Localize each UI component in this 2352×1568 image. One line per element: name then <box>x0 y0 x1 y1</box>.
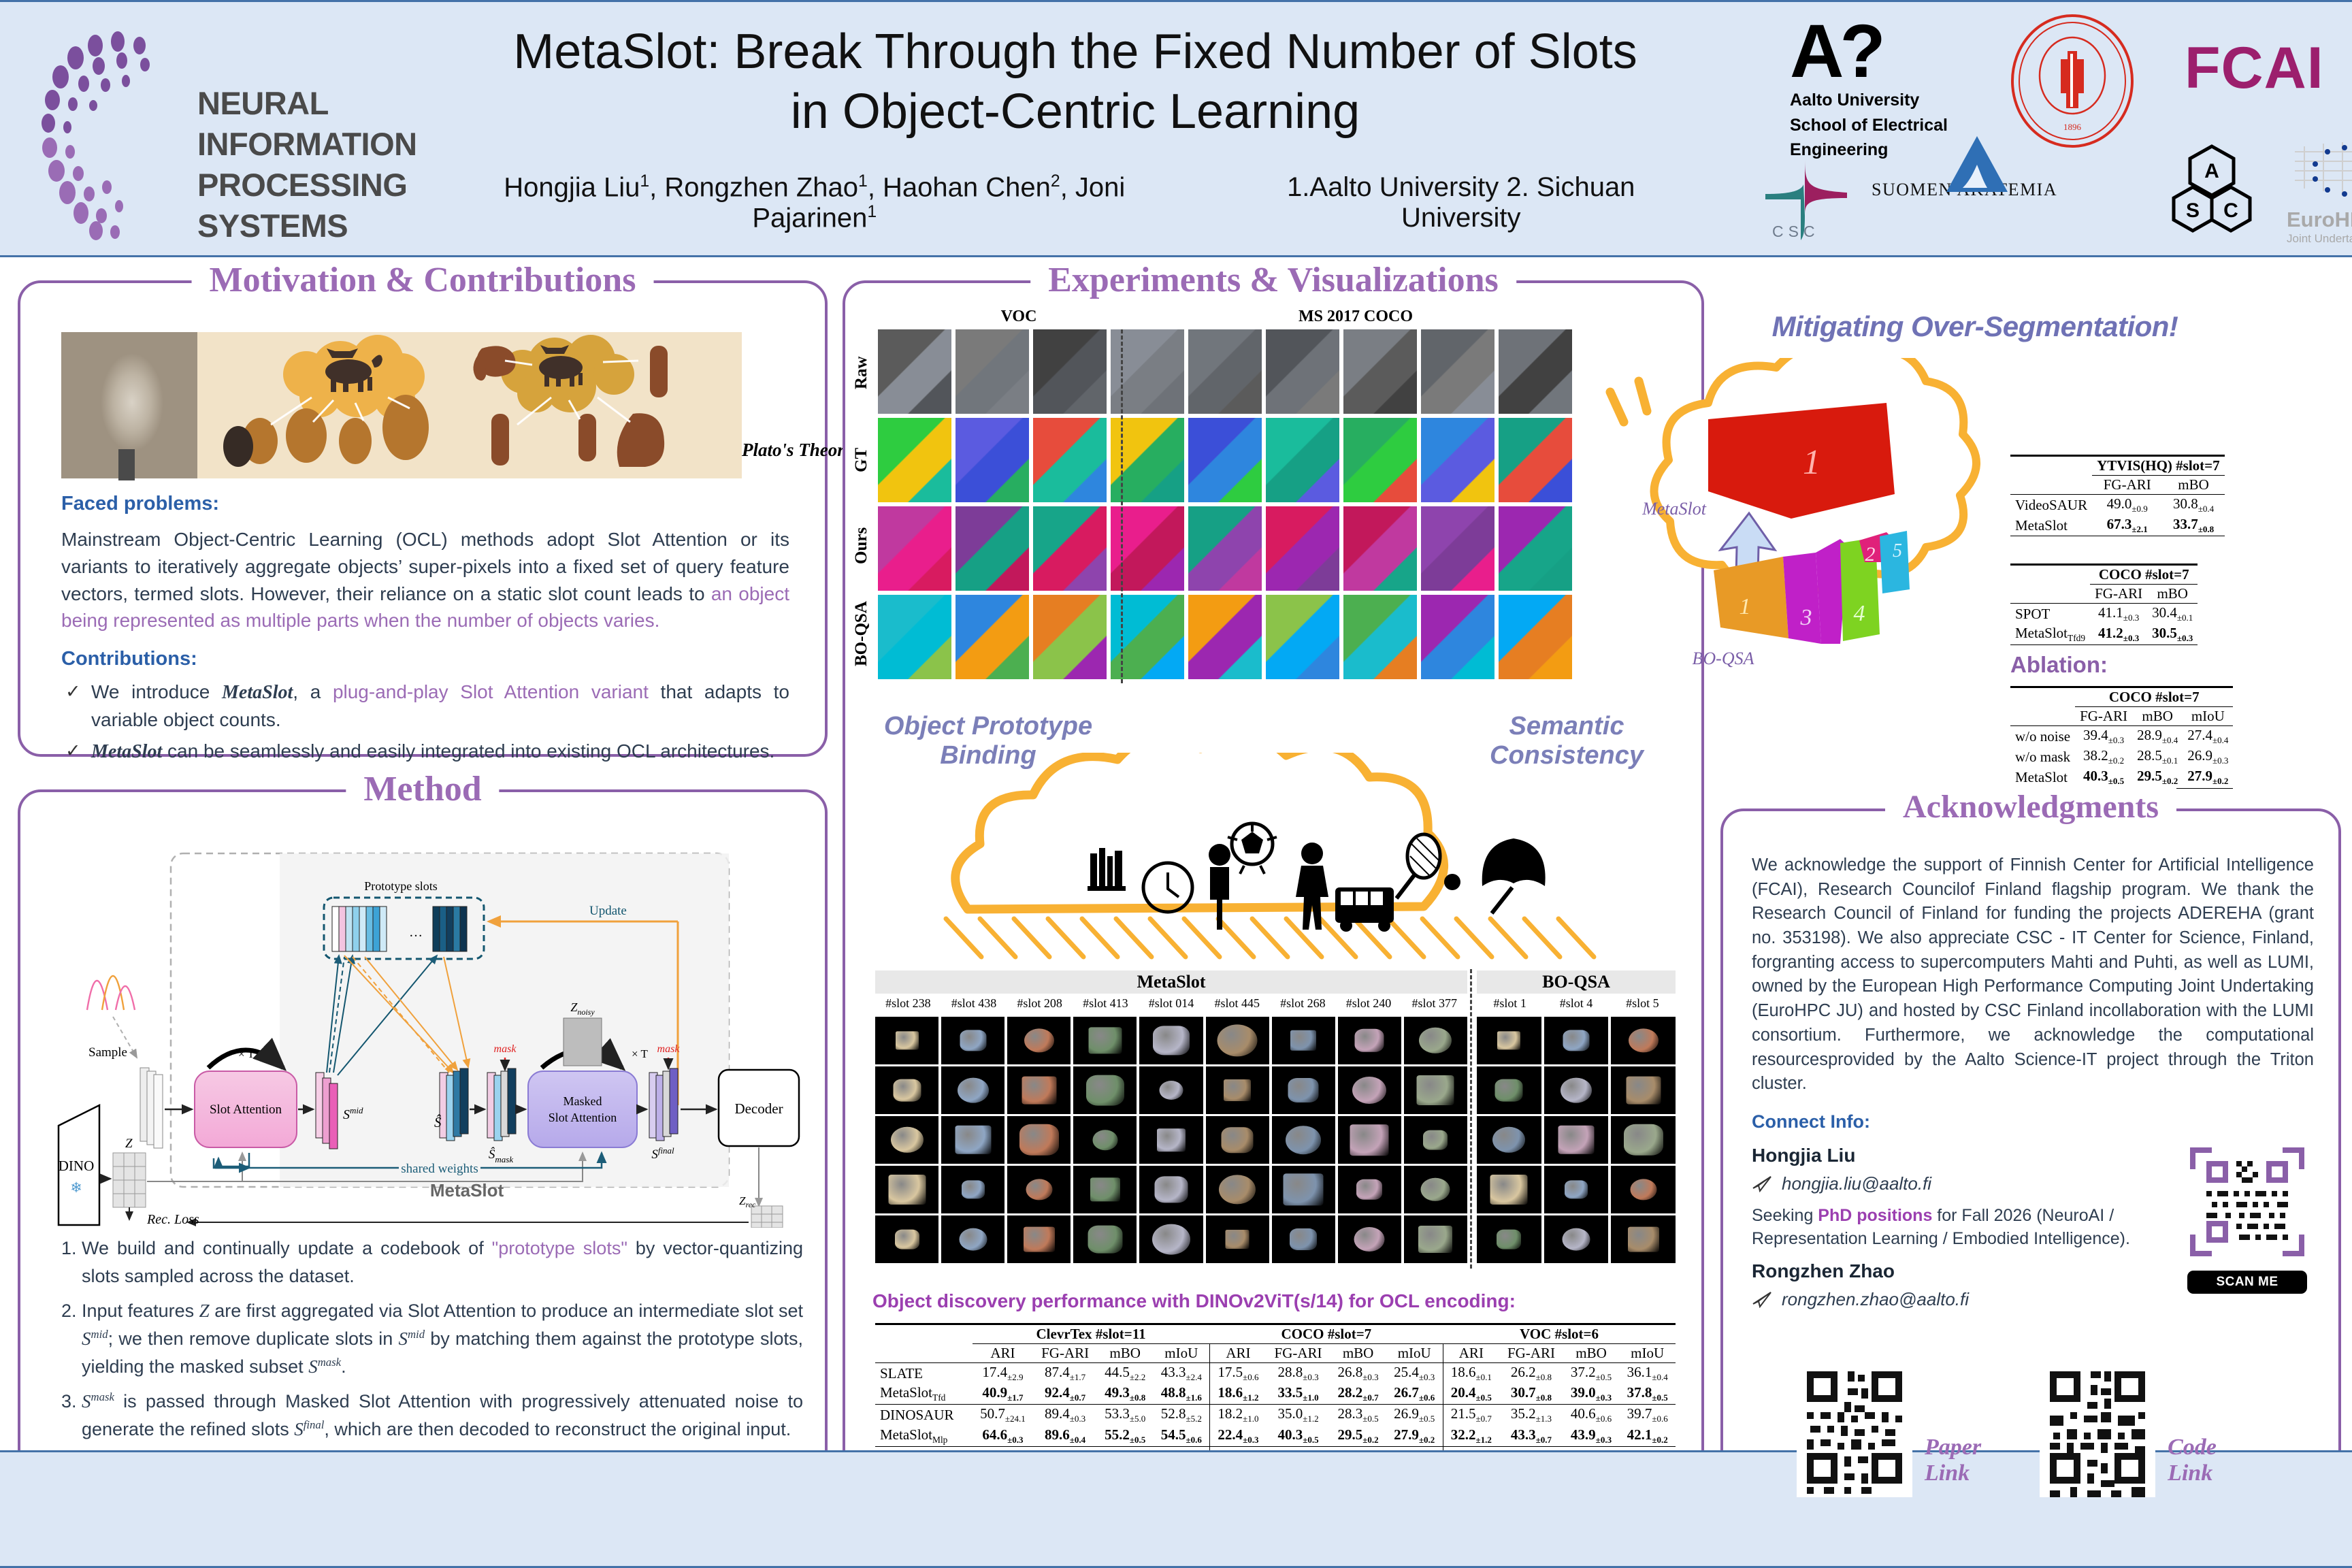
svg-text:A: A <box>2204 160 2219 182</box>
poster-title-line-1: MetaSlot: Break Through the Fixed Number… <box>476 22 1674 82</box>
ytvis-cell-0-1: 30.8±0.4 <box>2162 495 2224 516</box>
qualitative-cell <box>955 506 1029 591</box>
od-col-10: mBO <box>1563 1344 1620 1363</box>
poster-root: NEURAL INFORMATION PROCESSING SYSTEMS Me… <box>0 0 2352 1568</box>
slot-object-thumbnail <box>1088 1027 1122 1053</box>
academy-triangle-icon <box>1940 133 2014 195</box>
dataset-label-coco: MS 2017 COCO <box>1138 308 1573 326</box>
boqsa-slot-image-grid <box>1477 1017 1676 1267</box>
slot-image-cell <box>1139 1066 1203 1114</box>
slot-image-cell <box>875 1166 938 1213</box>
od-cell: 44.5±2.2 <box>1097 1363 1154 1384</box>
table-row: MetaSlotMlp64.6±0.389.6±0.455.2±0.554.5±… <box>875 1426 1676 1447</box>
ablation-cell-1-2: 26.9±0.3 <box>2183 747 2233 767</box>
od-col-3: mIoU <box>1153 1344 1209 1363</box>
slot-object-thumbnail <box>893 1079 921 1102</box>
coco7-col-fgari: FG-ARI <box>2090 585 2147 604</box>
slot-image-cell <box>1611 1017 1676 1064</box>
od-cell: 29.5±0.2 <box>1330 1426 1386 1447</box>
od-cell: 40.3±0.5 <box>1267 1426 1330 1447</box>
qualitative-cell <box>1343 506 1417 591</box>
slot-object-thumbnail <box>1224 1079 1251 1101</box>
method-shared-weights-label: shared weights <box>401 1162 478 1176</box>
slot-object-thumbnail <box>1022 1077 1056 1105</box>
svg-text:S: S <box>2186 199 2200 222</box>
slot-object-thumbnail <box>1350 1124 1389 1156</box>
slot-image-cell <box>1338 1166 1401 1213</box>
slot-image-cell <box>1073 1017 1137 1064</box>
od-col-1: FG-ARI <box>1033 1344 1097 1363</box>
ablation-cell-0-1: 28.9±0.4 <box>2132 726 2183 747</box>
ytvis-cell-1-0: 67.3±2.1 <box>2092 515 2162 536</box>
slot-object-thumbnail <box>1090 1177 1120 1201</box>
od-col-11: mIoU <box>1619 1344 1676 1363</box>
contribution-item-1: We introduce MetaSlot, a plug-and-play S… <box>61 679 789 734</box>
slot-image-cell <box>875 1215 938 1263</box>
aalto-line-1: Aalto University <box>1790 90 1948 111</box>
ablation-heading: Ablation: <box>2010 652 2108 678</box>
slot-object-thumbnail <box>1565 1180 1588 1198</box>
svg-text:3: 3 <box>1800 605 1812 630</box>
ablation-cell-2-1: 29.5±0.2 <box>2132 767 2183 788</box>
svg-text:4: 4 <box>1854 601 1865 626</box>
slot-image-cell <box>1272 1017 1335 1064</box>
scan-me-badge: SCAN ME <box>2187 1271 2307 1294</box>
neurips-logo: NEURAL INFORMATION PROCESSING SYSTEMS <box>31 18 466 243</box>
method-prototype-slots-label: Prototype slots <box>364 879 438 893</box>
seeking-text: Seeking PhD positions for Fall 2026 (Neu… <box>1752 1204 2178 1251</box>
slot-image-cell <box>1338 1116 1401 1164</box>
affiliation-list: 1.Aalto University 2. Sichuan University <box>1248 172 1674 233</box>
od-cell: 54.5±0.6 <box>1153 1426 1209 1447</box>
slot-image-cell <box>1544 1116 1609 1164</box>
contact-email-2[interactable]: rongzhen.zhao@aalto.fi <box>1782 1289 1969 1310</box>
qualitative-cell <box>1499 595 1572 679</box>
od-cell: 36.1±0.4 <box>1619 1363 1676 1384</box>
fcai-logo: FCAI <box>2185 35 2324 102</box>
od-cell: 43.3±0.7 <box>1499 1426 1563 1447</box>
panel-motivation: Motivation & Contributions <box>18 280 828 757</box>
od-cell: 43.9±0.3 <box>1563 1426 1620 1447</box>
qualitative-cell <box>1188 418 1262 502</box>
contact-email-1[interactable]: hongjia.liu@aalto.fi <box>1782 1173 1931 1194</box>
od-col-5: FG-ARI <box>1267 1344 1330 1363</box>
od-cell: 26.8±0.3 <box>1330 1363 1386 1384</box>
svg-text:5: 5 <box>1893 540 1902 561</box>
aalto-logo: A? Aalto University School of Electrical… <box>1790 17 1948 161</box>
od-row-label: SLATE <box>875 1363 973 1384</box>
slot-label: #slot 413 <box>1073 996 1139 1011</box>
slot-label: #slot 240 <box>1336 996 1402 1011</box>
slot-object-thumbnail <box>1157 1128 1186 1151</box>
slot-object-thumbnail <box>1629 1028 1659 1052</box>
qualitative-cell <box>1343 329 1417 414</box>
svg-text:…: … <box>409 925 423 940</box>
method-dino-label: DINO <box>59 1158 95 1174</box>
qr-code-code[interactable] <box>2040 1361 2155 1497</box>
qualitative-cell <box>955 595 1029 679</box>
ablation-row-label-1: w/o mask <box>2010 747 2075 767</box>
slot-image-cell <box>1611 1166 1676 1213</box>
panel-title-motivation: Motivation & Contributions <box>192 260 654 300</box>
slot-label: #slot 5 <box>1610 996 1676 1011</box>
slot-image-cell <box>1139 1116 1203 1164</box>
qualitative-cell <box>1421 595 1494 679</box>
qualitative-cell <box>878 595 951 679</box>
od-cell: 48.8±1.6 <box>1153 1384 1209 1405</box>
method-step-3: Smask is passed through Masked Slot Atte… <box>82 1388 803 1443</box>
slot-object-thumbnail <box>1024 1028 1054 1052</box>
od-cell: 40.9±1.7 <box>973 1384 1034 1405</box>
method-architecture-diagram: Sample Slot Attention <box>45 833 807 1228</box>
slot-object-thumbnail <box>955 1126 991 1154</box>
table-row: MetaSlotTfd40.9±1.792.4±0.749.3±0.848.8±… <box>875 1384 1676 1405</box>
neurips-dot-swirl-icon <box>31 18 208 243</box>
slot-label: #slot 208 <box>1007 996 1073 1011</box>
csc-logo: CSC <box>1763 150 1851 246</box>
aalto-line-2: School of Electrical <box>1790 115 1948 136</box>
method-steps-list: We build and continually update a codebo… <box>48 1235 803 1450</box>
person-icon <box>1209 844 1230 930</box>
slot-object-thumbnail <box>1086 1075 1124 1106</box>
qr-links-row: Paper Link <box>1797 1361 2217 1497</box>
slot-object-thumbnail <box>1288 1078 1319 1102</box>
panel-experiments: Experiments & Visualizations VOC MS 2017… <box>843 280 1704 1552</box>
od-row-label: DINOSAUR <box>875 1405 973 1426</box>
slot-image-cell <box>1272 1066 1335 1114</box>
slot-image-cell <box>1477 1066 1541 1114</box>
poster-title-line-2: in Object-Centric Learning <box>476 82 1674 142</box>
qualitative-cell <box>1033 506 1107 591</box>
slot-image-cell <box>1272 1215 1335 1263</box>
slot-object-thumbnail <box>1286 1126 1321 1154</box>
eurohpc-wordmark: EuroHPC <box>2287 208 2352 232</box>
slot-image-cell <box>1139 1166 1203 1213</box>
umbrella-icon <box>1482 838 1546 913</box>
od-group-voc: VOC #slot=6 <box>1443 1324 1676 1344</box>
slot-image-cell <box>1206 1166 1269 1213</box>
od-row-label: MetaSlotTfd <box>875 1384 973 1405</box>
od-cell: 32.2±1.2 <box>1443 1426 1499 1447</box>
slot-object-thumbnail <box>1419 1028 1452 1053</box>
svg-text:× T: × T <box>632 1047 649 1060</box>
table-ytvis: YTVIS(HQ) #slot=7 FG-ARImBO VideoSAUR 49… <box>2010 455 2225 538</box>
slot-object-thumbnail <box>1152 1224 1190 1255</box>
slot-object-thumbnail <box>896 1031 919 1049</box>
slot-image-cell <box>1139 1215 1203 1263</box>
bubble-label-metaslot: MetaSlot <box>1641 499 1707 519</box>
od-cell: 89.6±0.4 <box>1033 1426 1097 1447</box>
od-cell: 53.3±5.0 <box>1097 1405 1154 1426</box>
svg-text:C: C <box>2223 199 2238 222</box>
slot-object-thumbnail <box>1497 1031 1520 1049</box>
slot-label: #slot 4 <box>1543 996 1609 1011</box>
neurips-line-1: NEURAL INFORMATION <box>197 83 466 165</box>
row-label-raw: Raw <box>852 332 871 414</box>
table-ablation: COCO #slot=7 FG-ARI mBO mIoU w/o noise 3… <box>2010 686 2233 790</box>
od-cell: 26.7±0.6 <box>1386 1384 1443 1405</box>
connect-info-heading: Connect Info: <box>1752 1111 2314 1132</box>
slot-image-cell <box>1404 1017 1467 1064</box>
od-cell: 22.4±0.3 <box>1210 1426 1267 1447</box>
slot-object-thumbnail <box>1356 1179 1382 1200</box>
plato-bust-image <box>61 332 197 478</box>
paper-link-block[interactable]: Paper Link <box>1797 1361 1981 1497</box>
slot-object-thumbnail <box>1024 1227 1055 1252</box>
faced-problems-text: Mainstream Object-Centric Learning (OCL)… <box>61 526 789 634</box>
qualitative-cell <box>1499 506 1572 591</box>
slot-image-cell <box>941 1215 1004 1263</box>
qualitative-cell <box>955 418 1029 502</box>
slot-image-cell <box>1139 1017 1203 1064</box>
od-cell: 50.7±24.1 <box>973 1405 1034 1426</box>
slot-image-cell <box>941 1166 1004 1213</box>
plato-figure <box>61 332 742 478</box>
slot-object-thumbnail <box>960 1030 986 1051</box>
panel-title-method: Method <box>346 769 499 809</box>
slot-image-cell <box>1544 1166 1609 1213</box>
method-metaslot-label: MetaSlot <box>430 1180 504 1200</box>
slot-object-thumbnail <box>1354 1227 1385 1252</box>
od-group-clevrtex: ClevrTex #slot=11 <box>973 1324 1210 1344</box>
slot-object-thumbnail <box>1226 1230 1249 1249</box>
ablation-col-miou: mIoU <box>2183 707 2233 726</box>
slot-image-cell <box>1611 1066 1676 1114</box>
ablation-row-label-2: MetaSlot <box>2010 767 2075 788</box>
slot-image-cell <box>1544 1017 1609 1064</box>
slot-image-cell <box>1007 1116 1071 1164</box>
od-cell: 37.8±0.5 <box>1619 1384 1676 1405</box>
slot-object-thumbnail <box>1417 1075 1454 1105</box>
od-cell: 39.7±0.6 <box>1619 1405 1676 1426</box>
slot-image-cell <box>1007 1017 1071 1064</box>
ablation-group-header: COCO #slot=7 <box>2075 687 2233 707</box>
slot-object-thumbnail <box>1355 1029 1384 1052</box>
send-icon-2 <box>1752 1290 1772 1308</box>
svg-text:2: 2 <box>1865 543 1876 566</box>
table-row: DINOSAUR50.7±24.189.4±0.353.3±5.052.8±5.… <box>875 1405 1676 1426</box>
od-cell: 28.3±0.5 <box>1330 1405 1386 1426</box>
dataset-divider <box>1121 329 1123 683</box>
slot-object-thumbnail <box>1423 1130 1448 1150</box>
method-mask-label-2: mask <box>657 1043 681 1055</box>
method-step-2: Input features Z are first aggregated vi… <box>82 1297 803 1381</box>
slot-image-cell <box>1404 1116 1467 1164</box>
sponsor-logo-group: A? Aalto University School of Electrical… <box>1749 6 2348 255</box>
slot-image-cell <box>1338 1017 1401 1064</box>
slot-grid-divider <box>1470 969 1472 1269</box>
qualitative-cell <box>1266 595 1339 679</box>
slot-object-thumbnail <box>1561 1078 1592 1103</box>
method-decoder-label: Decoder <box>734 1100 783 1117</box>
od-cell: 87.4±1.7 <box>1033 1363 1097 1384</box>
slot-image-cell <box>1611 1116 1676 1164</box>
od-cell: 52.8±5.2 <box>1153 1405 1209 1426</box>
slot-label: #slot 268 <box>1270 996 1336 1011</box>
ytvis-cell-0-0: 49.0±0.9 <box>2092 495 2162 516</box>
slot-image-cell <box>1477 1017 1541 1064</box>
od-col-4: ARI <box>1210 1344 1267 1363</box>
od-cell: 55.2±0.5 <box>1097 1426 1154 1447</box>
slot-object-thumbnail <box>888 1175 926 1205</box>
slot-object-thumbnail <box>1153 1026 1190 1055</box>
slot-image-cell <box>1206 1215 1269 1263</box>
slot-image-cell <box>1272 1116 1335 1164</box>
slot-object-thumbnail <box>1218 1024 1258 1056</box>
od-group-coco: COCO #slot=7 <box>1210 1324 1443 1344</box>
qr-code-label: Code Link <box>2168 1435 2217 1486</box>
slot-label: #slot 438 <box>941 996 1007 1011</box>
slot-object-thumbnail <box>1092 1130 1117 1150</box>
slot-image-cell <box>1272 1166 1335 1213</box>
od-cell: 18.2±1.0 <box>1210 1405 1267 1426</box>
od-cell: 21.5±0.7 <box>1443 1405 1499 1426</box>
csc-wordmark: CSC <box>1772 223 1820 241</box>
slot-object-thumbnail <box>1222 1127 1254 1153</box>
od-cell: 28.8±0.3 <box>1267 1363 1330 1384</box>
slot-image-cell <box>1073 1215 1137 1263</box>
slot-section-header-metaslot: MetaSlot <box>875 970 1467 994</box>
table-coco-slot7: COCO #slot=7 FG-ARImBO SPOT 41.1±0.330.4… <box>2010 563 2198 647</box>
boqsa-slot-label-row: #slot 1#slot 4#slot 5 <box>1477 996 1676 1011</box>
method-slot-attention-label: Slot Attention <box>210 1102 282 1117</box>
ytvis-group-header: YTVIS(HQ) #slot=7 <box>2092 456 2225 476</box>
faced-problems-heading: Faced problems: <box>61 493 789 515</box>
qualitative-cell <box>1266 329 1339 414</box>
slot-object-thumbnail <box>1630 1179 1656 1200</box>
slot-image-cell <box>1206 1116 1269 1164</box>
od-cell: 20.4±0.5 <box>1443 1384 1499 1405</box>
od-col-8: ARI <box>1443 1344 1499 1363</box>
qr-code-paper[interactable] <box>1797 1361 1912 1497</box>
over-segmentation-title: Mitigating Over-Segmentation! <box>1587 310 2352 343</box>
slot-label: #slot 1 <box>1477 996 1543 1011</box>
method-s-hat-label: Ŝ <box>434 1114 442 1130</box>
ytvis-row-label-1: MetaSlot <box>2010 515 2092 536</box>
slot-object-thumbnail <box>1352 1077 1386 1104</box>
code-link-block[interactable]: Code Link <box>2040 1361 2217 1497</box>
od-cell: 28.2±0.7 <box>1330 1384 1386 1405</box>
qualitative-cell <box>1343 595 1417 679</box>
qualitative-cell <box>1499 329 1572 414</box>
contact-name-2: Rongzhen Zhao <box>1752 1260 2178 1282</box>
sichuan-university-seal-icon: 1896 <box>2008 13 2137 149</box>
ytvis-row-label-0: VideoSAUR <box>2010 495 2092 516</box>
slot-image-cell <box>1338 1215 1401 1263</box>
method-z-rec-label: Zrec <box>739 1194 756 1209</box>
author-list: Hongjia Liu1, Rongzhen Zhao1, Haohan Che… <box>476 172 1153 234</box>
object-discovery-heading: Object discovery performance with DINOv2… <box>872 1290 1516 1312</box>
slot-image-cell <box>1477 1166 1541 1213</box>
metaslot-slot-image-grid <box>875 1017 1467 1267</box>
coco7-cell-0-0: 41.1±0.3 <box>2090 604 2147 625</box>
svg-text:1896: 1896 <box>2063 122 2082 132</box>
slot-image-cell <box>1611 1215 1676 1263</box>
qualitative-cell <box>1188 595 1262 679</box>
slot-object-thumbnail <box>895 1230 919 1249</box>
slot-object-thumbnail <box>1159 1081 1183 1100</box>
contributions-list: We introduce MetaSlot, a plug-and-play S… <box>61 679 789 765</box>
slot-object-thumbnail <box>1492 1127 1525 1153</box>
qualitative-cell <box>1033 418 1107 502</box>
slot-image-cell <box>1007 1215 1071 1263</box>
od-cell: 42.1±0.2 <box>1619 1426 1676 1447</box>
slot-object-thumbnail <box>1290 1030 1316 1051</box>
panel-title-acknowledgments: Acknowledgments <box>1885 788 2176 826</box>
asc-hexagon-logo-icon: A S C <box>2171 142 2253 238</box>
slot-image-cell <box>941 1017 1004 1064</box>
od-col-0: ARI <box>973 1344 1034 1363</box>
slot-image-cell <box>1073 1066 1137 1114</box>
panel-title-experiments: Experiments & Visualizations <box>1030 260 1516 300</box>
slot-object-thumbnail <box>891 1127 924 1153</box>
slot-image-cell <box>941 1066 1004 1114</box>
slot-object-thumbnail <box>1421 1178 1450 1201</box>
slot-object-thumbnail <box>1418 1226 1452 1253</box>
qualitative-cell <box>1188 329 1262 414</box>
eurohpc-stars-icon <box>2287 140 2352 204</box>
dataset-label-voc: VOC <box>920 308 1117 326</box>
qualitative-cell <box>878 329 951 414</box>
slot-label: #slot 377 <box>1401 996 1467 1011</box>
slot-image-cell <box>1544 1066 1609 1114</box>
od-cell: 26.2±0.8 <box>1499 1363 1563 1384</box>
od-cell: 30.7±0.8 <box>1499 1384 1563 1405</box>
title-block: MetaSlot: Break Through the Fixed Number… <box>476 22 1674 233</box>
coco7-group-header: COCO #slot=7 <box>2090 565 2198 585</box>
slot-label: #slot 014 <box>1139 996 1205 1011</box>
slot-label: #slot 238 <box>875 996 941 1011</box>
slot-image-cell <box>1404 1166 1467 1213</box>
qualitative-cell <box>878 506 951 591</box>
slot-object-thumbnail <box>1284 1173 1324 1205</box>
coco7-cell-0-1: 30.4±0.1 <box>2147 604 2198 625</box>
od-cell: 37.2±0.5 <box>1563 1363 1620 1384</box>
bus-icon <box>1335 887 1394 932</box>
poster-header: NEURAL INFORMATION PROCESSING SYSTEMS Me… <box>0 0 2352 257</box>
qualitative-cell <box>1499 418 1572 502</box>
slot-image-cell <box>1007 1066 1071 1114</box>
od-cell: 35.2±1.3 <box>1499 1405 1563 1426</box>
slot-object-thumbnail <box>1562 1228 1590 1251</box>
slot-image-cell <box>1477 1116 1541 1164</box>
slot-object-thumbnail <box>1490 1175 1528 1205</box>
od-cell: 89.4±0.3 <box>1033 1405 1097 1426</box>
table-row: SLATE17.4±2.987.4±1.744.5±2.243.3±2.417.… <box>875 1363 1676 1384</box>
od-cell: 26.9±0.5 <box>1386 1405 1443 1426</box>
qr-code-personal[interactable] <box>2187 1142 2307 1262</box>
qualitative-cell <box>1266 506 1339 591</box>
qualitative-cell <box>1343 418 1417 502</box>
qualitative-cell <box>1188 506 1262 591</box>
od-cell: 64.6±0.3 <box>973 1426 1034 1447</box>
coco7-cell-1-1: 30.5±0.3 <box>2147 624 2198 645</box>
method-masked-slot-attention-label-1: Masked <box>563 1094 602 1108</box>
qualitative-cell <box>878 418 951 502</box>
od-cell: 27.9±0.2 <box>1386 1426 1443 1447</box>
coco7-cell-1-0: 41.2±0.3 <box>2090 624 2147 645</box>
slot-object-thumbnail <box>1026 1179 1052 1200</box>
slot-image-cell <box>1073 1166 1137 1213</box>
plato-dogs-illustration <box>197 332 742 478</box>
slot-object-thumbnail <box>959 1228 987 1251</box>
qualitative-cell <box>1033 329 1107 414</box>
suomen-akatemia-logo: SUOMEN AKATEMIA <box>1872 180 2057 200</box>
slot-image-cell <box>941 1116 1004 1164</box>
qualitative-cell <box>1421 418 1494 502</box>
method-mask-label-1: mask <box>494 1043 517 1055</box>
ablation-cell-2-0: 40.3±0.5 <box>2075 767 2132 788</box>
